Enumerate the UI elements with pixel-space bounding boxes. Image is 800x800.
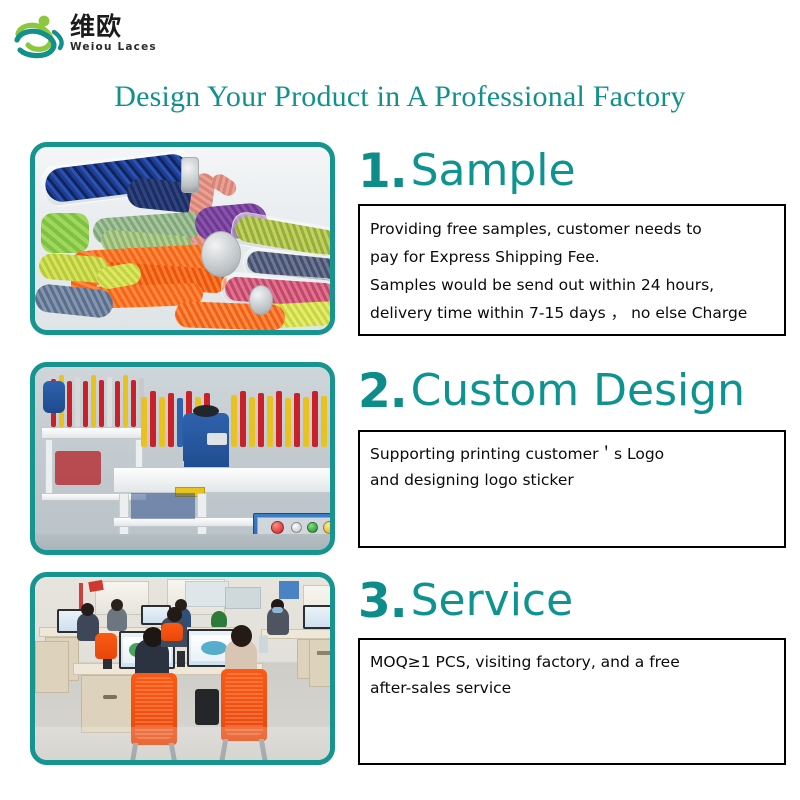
section-title: Custom Design — [411, 369, 745, 413]
text-line: delivery time within 7-15 days ， no else… — [370, 299, 776, 327]
photo-ropes — [30, 142, 335, 335]
page-title: Design Your Product in A Professional Fa… — [0, 80, 800, 114]
section-heading-service: 3. Service — [358, 572, 573, 630]
section-number: 1. — [358, 148, 407, 195]
section-text-box-sample: Providing free samples, customer needs t… — [358, 204, 786, 336]
weiou-swoosh-logo-icon — [14, 12, 68, 62]
text-line: Supporting printing customer＇s Logo — [370, 441, 776, 467]
brand-logo: 维欧 Weiou Laces — [14, 10, 264, 66]
text-line: MOQ≥1 PCS, visiting factory, and a free — [370, 649, 776, 675]
section-text-box-custom-design: Supporting printing customer＇s Logo and … — [358, 430, 786, 548]
section-number: 3. — [358, 578, 407, 625]
text-line: Samples would be send out within 24 hour… — [370, 271, 776, 299]
section-heading-custom-design: 2. Custom Design — [358, 362, 745, 420]
section-heading-sample: 1. Sample — [358, 142, 576, 200]
photo-office — [30, 572, 335, 765]
text-line: and designing logo sticker — [370, 467, 776, 493]
logo-name-en: Weiou Laces — [70, 41, 250, 53]
section-title: Service — [411, 579, 574, 623]
section-text-box-service: MOQ≥1 PCS, visiting factory, and a free … — [358, 638, 786, 765]
logo-name-cn: 维欧 — [70, 13, 250, 40]
section-title: Sample — [411, 149, 576, 193]
section-service: 3. Service MOQ≥1 PCS, visiting factory, … — [0, 572, 800, 772]
logo-wordmark: 维欧 Weiou Laces — [70, 13, 250, 53]
photo-braiding-machines — [30, 362, 335, 555]
section-number: 2. — [358, 368, 407, 415]
section-sample: 1. Sample Providing free samples, custom… — [0, 142, 800, 347]
text-line: pay for Express Shipping Fee. — [370, 243, 776, 271]
section-custom-design: 2. Custom Design Supporting printing cus… — [0, 362, 800, 562]
text-line: Providing free samples, customer needs t… — [370, 215, 776, 243]
text-line: after-sales service — [370, 675, 776, 701]
